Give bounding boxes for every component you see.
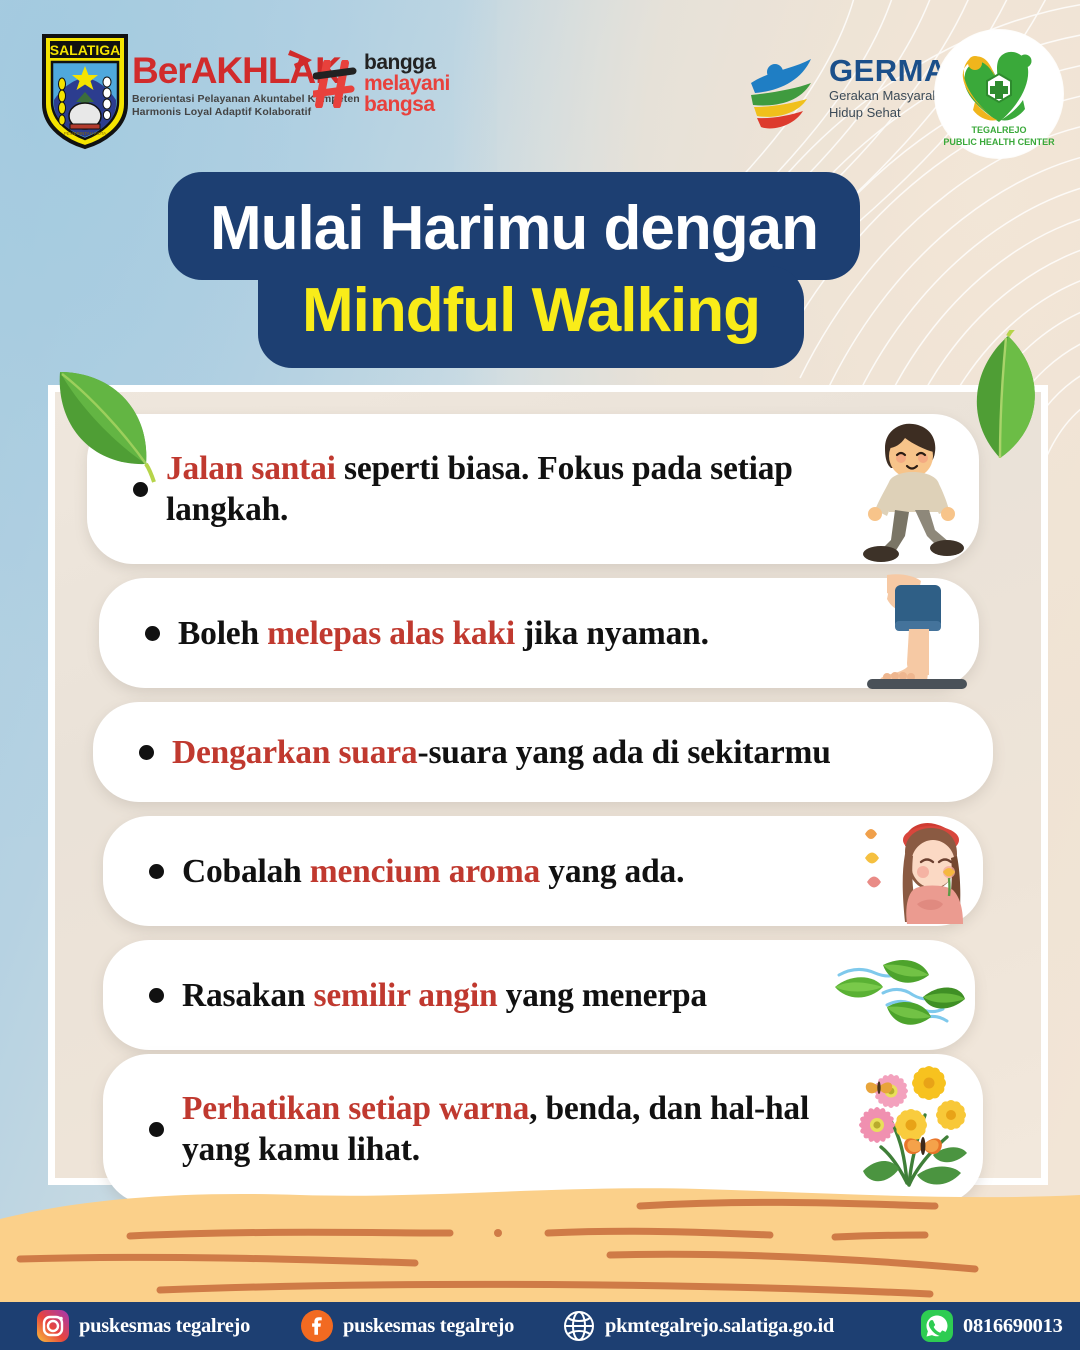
tip-text-plain: yang ada. xyxy=(548,853,684,890)
berakhlak-tagline-line2: Harmonis Loyal Adaptif Kolaboratif xyxy=(132,106,311,118)
butterfly-icon xyxy=(904,1137,942,1155)
tegalrejo-health-center-logo: TEGALREJO PUBLIC HEALTH CENTER xyxy=(935,30,1063,158)
pkm-logo-line1: TEGALREJO xyxy=(971,125,1026,135)
svg-text:PEMERINTAH KOTA: PEMERINTAH KOTA xyxy=(64,131,106,136)
leaf-decor-top-right-icon xyxy=(960,330,1060,465)
title-line1: Mulai Harimu dengan xyxy=(168,172,860,280)
walking-boy-illustration xyxy=(851,414,969,564)
bangga-melayani-bangsa-logo: bangga melayani bangsa xyxy=(313,52,450,115)
salatiga-coat-of-arms: SALATIGA PEMERINTAH KOTA xyxy=(40,32,130,150)
footer-contact-item[interactable]: pkmtegalrejo.salatiga.go.id xyxy=(562,1309,834,1343)
walking-boy-illustration xyxy=(851,414,969,564)
tip-bullet-icon xyxy=(133,482,148,497)
tip-card: Rasakan semilir angin yang menerpa xyxy=(103,940,975,1050)
bangga-line3: bangsa xyxy=(364,94,450,115)
tip-text: Cobalah mencium aroma yang ada. xyxy=(182,851,698,892)
tip-text: Dengarkan suara-suara yang ada di sekita… xyxy=(172,732,845,773)
footer-contact-label: pkmtegalrejo.salatiga.go.id xyxy=(605,1315,834,1338)
bare-foot-illustration xyxy=(865,578,969,688)
tip-text-accent: Dengarkan suara xyxy=(172,734,418,771)
title-line2: Mindful Walking xyxy=(258,266,804,368)
footer-contact-label: puskesmas tegalrejo xyxy=(343,1315,514,1338)
tip-text: Rasakan semilir angin yang menerpa xyxy=(182,975,721,1016)
footer-contact-item[interactable]: puskesmas tegalrejo xyxy=(300,1309,514,1343)
tip-text-accent: melepas alas kaki xyxy=(267,615,523,652)
bangga-wordmark: bangga melayani bangsa xyxy=(364,52,450,115)
header-logo-bar: SALATIGA PEMERINTAH KOTA BerAKHLAK xyxy=(0,0,1080,170)
tip-card: Cobalah mencium aroma yang ada. xyxy=(103,816,983,926)
leaves-wind-illustration xyxy=(825,949,965,1041)
tip-text-plain: -suara yang ada di sekitarmu xyxy=(418,734,831,771)
bare-foot-illustration xyxy=(865,573,969,693)
footer-contact-item[interactable]: puskesmas tegalrejo xyxy=(36,1309,250,1343)
berakhlak-swoosh-icon xyxy=(286,48,316,78)
footer-contact-label: puskesmas tegalrejo xyxy=(79,1315,250,1338)
tip-text-plain: Rasakan xyxy=(182,977,314,1014)
salatiga-label: SALATIGA xyxy=(50,42,121,58)
facebook-icon[interactable] xyxy=(300,1309,334,1343)
bangga-line2: melayani xyxy=(364,73,450,94)
tip-bullet-icon xyxy=(149,988,164,1003)
globe-icon[interactable] xyxy=(562,1309,596,1343)
butterfly-small-icon xyxy=(866,1081,892,1094)
tip-bullet-icon xyxy=(149,864,164,879)
footer-contact-item[interactable]: 0816690013 xyxy=(920,1309,1063,1343)
tip-text-accent: Perhatikan setiap warna xyxy=(182,1090,529,1127)
tips-card-list: Jalan santai seperti biasa. Fokus pada s… xyxy=(55,392,1041,1178)
pkm-logo-line2: PUBLIC HEALTH CENTER xyxy=(943,137,1055,147)
germas-figure-icon xyxy=(745,55,821,141)
tip-text-accent: semilir angin xyxy=(314,977,506,1014)
girl-smelling-flower-illustration xyxy=(843,816,973,926)
leaves-wind-illustration xyxy=(825,940,965,1050)
tip-bullet-icon xyxy=(145,626,160,641)
tip-text: Jalan santai seperti biasa. Fokus pada s… xyxy=(166,448,874,530)
tip-card: Jalan santai seperti biasa. Fokus pada s… xyxy=(87,414,979,564)
poster-title: Mulai Harimu dengan Mindful Walking xyxy=(168,172,928,368)
footer-contact-bar: puskesmas tegalrejo puskesmas tegalrejo … xyxy=(0,1302,1080,1350)
tip-text: Perhatikan setiap warna, benda, dan hal-… xyxy=(182,1088,866,1170)
footer-contact-label: 0816690013 xyxy=(963,1315,1063,1338)
tip-text: Boleh melepas alas kaki jika nyaman. xyxy=(178,613,723,654)
tip-card: Boleh melepas alas kaki jika nyaman. xyxy=(99,578,979,688)
tip-text-accent: Jalan santai xyxy=(166,450,344,487)
tip-text-plain: Cobalah xyxy=(182,853,310,890)
tip-card: Dengarkan suara-suara yang ada di sekita… xyxy=(93,702,993,802)
wooden-plank-base xyxy=(0,1173,1080,1308)
tips-panel: Jalan santai seperti biasa. Fokus pada s… xyxy=(48,385,1048,1185)
tip-text-plain: yang menerpa xyxy=(506,977,707,1014)
tip-text-plain: Boleh xyxy=(178,615,267,652)
bangga-line1: bangga xyxy=(364,52,450,73)
tip-text-plain: jika nyaman. xyxy=(523,615,709,652)
berakhlak-ber: Ber xyxy=(132,50,191,91)
hashtag-icon xyxy=(313,60,357,108)
girl-smelling-flower-illustration xyxy=(843,816,973,926)
footer-items: puskesmas tegalrejo puskesmas tegalrejo … xyxy=(0,1309,1063,1343)
tip-bullet-icon xyxy=(149,1122,164,1137)
leaf-decor-top-left-icon xyxy=(46,368,186,483)
instagram-icon[interactable] xyxy=(36,1309,70,1343)
whatsapp-icon[interactable] xyxy=(920,1309,954,1343)
tip-text-accent: mencium aroma xyxy=(310,853,549,890)
tip-bullet-icon xyxy=(139,745,154,760)
poster-root: SALATIGA PEMERINTAH KOTA BerAKHLAK xyxy=(0,0,1080,1350)
